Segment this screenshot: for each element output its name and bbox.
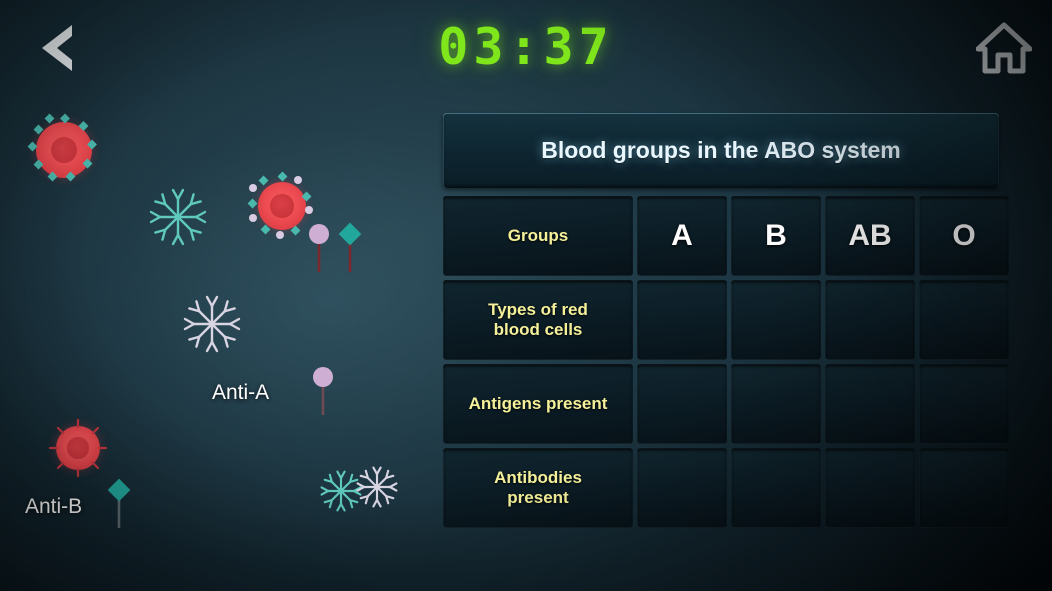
drop-cell-r1-a[interactable] xyxy=(637,280,727,360)
antibody-anti-a-small-token[interactable] xyxy=(354,464,400,510)
groups-header-cell-text: Groups xyxy=(508,226,568,246)
drop-cell-r3-b[interactable] xyxy=(731,448,821,528)
anti-a-label: Anti-A xyxy=(212,381,269,405)
anti-b-label: Anti-B xyxy=(25,495,82,519)
row-label-types-of-red-blood-cells-text: Types of redblood cells xyxy=(488,300,588,340)
column-header-o-text: O xyxy=(952,219,975,253)
red-blood-cell-ab-token[interactable] xyxy=(258,182,306,230)
drop-cell-r1-b[interactable] xyxy=(731,280,821,360)
drop-cell-r1-ab[interactable] xyxy=(825,280,915,360)
row-label-antibodies-present: Antibodiespresent xyxy=(443,448,633,528)
drop-cell-r2-ab[interactable] xyxy=(825,364,915,444)
antigen-a-pin-token[interactable] xyxy=(306,222,332,274)
abo-table-grid: GroupsABABOTypes of redblood cellsAntige… xyxy=(443,196,999,525)
drop-cell-r2-a[interactable] xyxy=(637,364,727,444)
column-header-o: O xyxy=(919,196,1009,276)
countdown-timer: 03:37 xyxy=(0,18,1052,76)
column-header-a: A xyxy=(637,196,727,276)
antigen-a-pin-2-token[interactable] xyxy=(310,365,336,417)
home-icon xyxy=(976,22,1032,74)
table-title-text: Blood groups in the ABO system xyxy=(541,137,901,164)
home-button[interactable] xyxy=(974,18,1034,78)
column-header-b: B xyxy=(731,196,821,276)
row-label-antigens-present-text: Antigens present xyxy=(469,394,608,414)
red-blood-cell-b-token[interactable] xyxy=(36,122,92,178)
row-label-types-of-red-blood-cells: Types of redblood cells xyxy=(443,280,633,360)
drop-cell-r1-o[interactable] xyxy=(919,280,1009,360)
column-header-ab-text: AB xyxy=(848,219,891,253)
drop-cell-r3-a[interactable] xyxy=(637,448,727,528)
drop-cell-r2-o[interactable] xyxy=(919,364,1009,444)
column-header-b-text: B xyxy=(765,219,787,253)
drop-cell-r2-b[interactable] xyxy=(731,364,821,444)
rbc-spike-ring xyxy=(56,426,100,470)
red-blood-cell-o-token[interactable] xyxy=(56,426,100,470)
game-stage: Anti-A Anti-B 03:37 Blood groups in the … xyxy=(0,0,1052,591)
antibody-anti-b-token[interactable] xyxy=(146,185,210,249)
drop-cell-r3-ab[interactable] xyxy=(825,448,915,528)
row-label-antibodies-present-text: Antibodiespresent xyxy=(494,468,582,508)
table-title: Blood groups in the ABO system xyxy=(443,113,999,188)
abo-table-panel: Blood groups in the ABO system GroupsABA… xyxy=(443,113,1001,525)
rbc-antigen-ring-mixed xyxy=(258,182,306,230)
rbc-antigen-ring-teal xyxy=(36,122,92,178)
groups-header-cell: Groups xyxy=(443,196,633,276)
row-label-antigens-present: Antigens present xyxy=(443,364,633,444)
drop-cell-r3-o[interactable] xyxy=(919,448,1009,528)
antibody-anti-a-token[interactable] xyxy=(180,292,244,356)
antigen-b-pin-2-token[interactable] xyxy=(106,478,132,530)
column-header-a-text: A xyxy=(671,219,693,253)
antigen-b-pin-token[interactable] xyxy=(337,222,363,274)
column-header-ab: AB xyxy=(825,196,915,276)
